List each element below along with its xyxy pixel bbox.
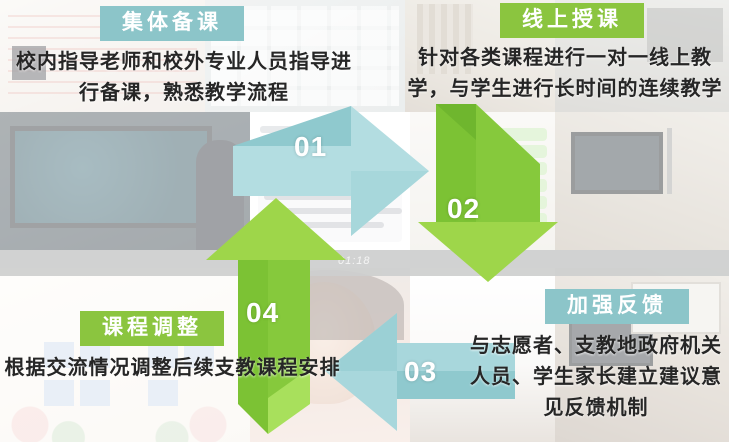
step-label-03-wrap: 加强反馈 bbox=[545, 289, 689, 324]
infographic-slide: 01:18 01 02 03 bbox=[0, 0, 729, 442]
step-label-02: 线上授课 bbox=[500, 3, 644, 38]
step-body-02: 针对各类课程进行一对一线上教学，与学生进行长时间的连续教学 bbox=[400, 42, 729, 104]
step-body-04: 根据交流情况调整后续支教课程安排 bbox=[0, 352, 345, 383]
step-arrow-02 bbox=[418, 104, 558, 284]
step-body-01: 校内指导老师和校外专业人员指导进行备课，熟悉教学流程 bbox=[10, 46, 358, 108]
step-label-04: 课程调整 bbox=[80, 311, 224, 346]
step-label-01: 集体备课 bbox=[100, 6, 244, 41]
step-number-01: 01 bbox=[294, 131, 327, 163]
step-body-03: 与志愿者、支教地政府机关人员、学生家长建立建议意见反馈机制 bbox=[462, 330, 729, 423]
step-number-04: 04 bbox=[246, 297, 279, 329]
step-number-02: 02 bbox=[447, 193, 480, 225]
step-label-03: 加强反馈 bbox=[545, 289, 689, 324]
step-number-03: 03 bbox=[404, 356, 437, 388]
step-label-04-wrap: 课程调整 bbox=[80, 311, 224, 346]
step-label-01-wrap: 集体备课 bbox=[100, 6, 244, 41]
step-label-02-wrap: 线上授课 bbox=[500, 3, 644, 38]
